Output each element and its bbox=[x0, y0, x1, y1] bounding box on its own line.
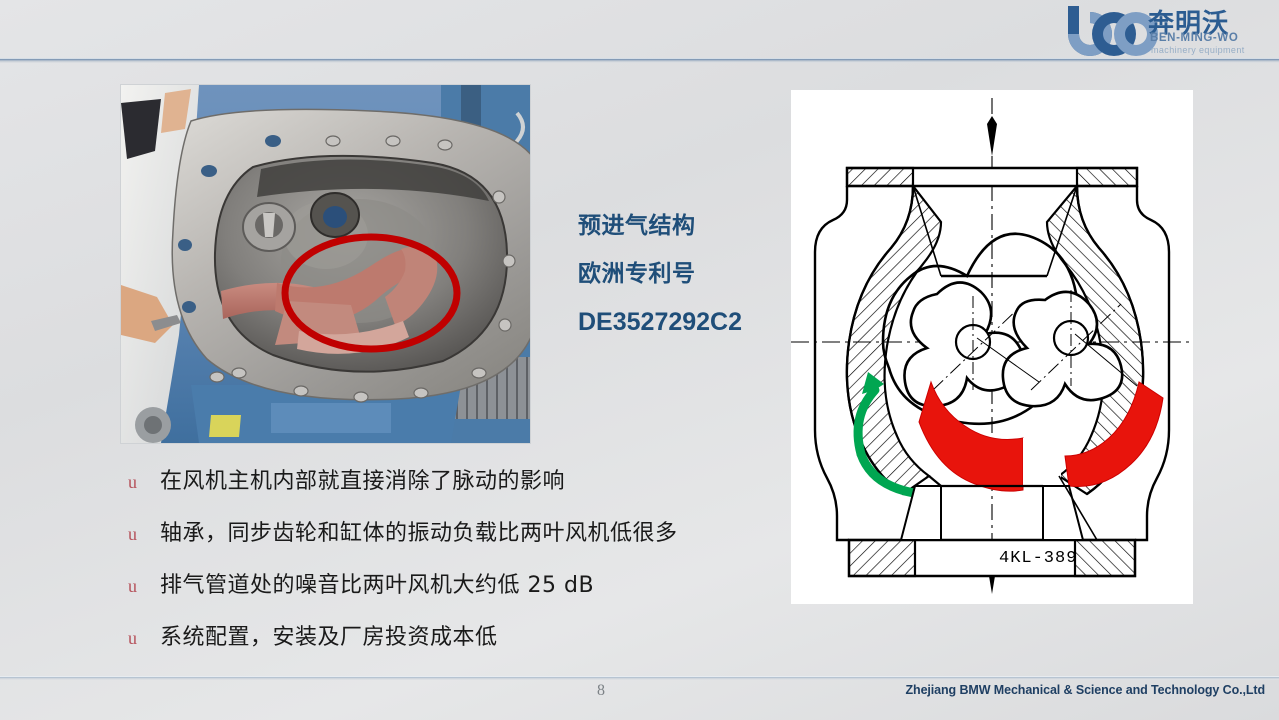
list-item-label: 在风机主机内部就直接消除了脉动的影响 bbox=[160, 463, 565, 495]
list-item-label: 轴承，同步齿轮和缸体的振动负载比两叶风机低很多 bbox=[160, 515, 678, 547]
page-number: 8 bbox=[597, 682, 605, 700]
bullet-marker-icon: u bbox=[122, 524, 160, 545]
list-item: u 排气管道处的噪音比两叶风机大约低 25 dB bbox=[122, 567, 762, 619]
bullet-marker-icon: u bbox=[122, 472, 160, 493]
blower-casing-photo bbox=[121, 85, 530, 443]
heading-line-1: 预进气结构 bbox=[578, 202, 808, 250]
company-logo: 奔明沃 BEN-MING-WO machinery equipment bbox=[1062, 4, 1270, 58]
list-item: u 轴承，同步齿轮和缸体的振动负载比两叶风机低很多 bbox=[122, 515, 762, 567]
section-heading: 预进气结构 欧洲专利号 DE3527292C2 bbox=[578, 202, 808, 346]
bullet-marker-icon: u bbox=[122, 576, 160, 597]
logo-english-name: BEN-MING-WO bbox=[1150, 32, 1238, 44]
list-item: u 系统配置，安装及厂房投资成本低 bbox=[122, 619, 762, 671]
list-item-label: 排气管道处的噪音比两叶风机大约低 25 dB bbox=[160, 567, 594, 599]
footer-company-name: Zhejiang BMW Mechanical & Science and Te… bbox=[906, 683, 1266, 697]
footer-divider-shadow bbox=[0, 678, 1279, 680]
list-item: u 在风机主机内部就直接消除了脉动的影响 bbox=[122, 463, 762, 515]
list-item-label: 系统配置，安装及厂房投资成本低 bbox=[160, 619, 498, 651]
photo-content bbox=[121, 85, 530, 443]
part-number-label: 4KL-389 bbox=[999, 549, 1077, 568]
bullet-marker-icon: u bbox=[122, 628, 160, 649]
patent-number: DE3527292C2 bbox=[578, 298, 808, 346]
bullet-list: u 在风机主机内部就直接消除了脉动的影响 u 轴承，同步齿轮和缸体的振动负载比两… bbox=[122, 463, 762, 671]
header-divider-shadow bbox=[0, 61, 1279, 63]
logo-tagline: machinery equipment bbox=[1151, 45, 1245, 55]
slide-canvas: 奔明沃 BEN-MING-WO machinery equipment bbox=[0, 0, 1279, 720]
blower-cross-section-drawing: 4KL-389 bbox=[791, 90, 1193, 604]
technical-drawing-panel: 4KL-389 bbox=[791, 90, 1193, 604]
heading-line-2: 欧洲专利号 bbox=[578, 250, 808, 298]
